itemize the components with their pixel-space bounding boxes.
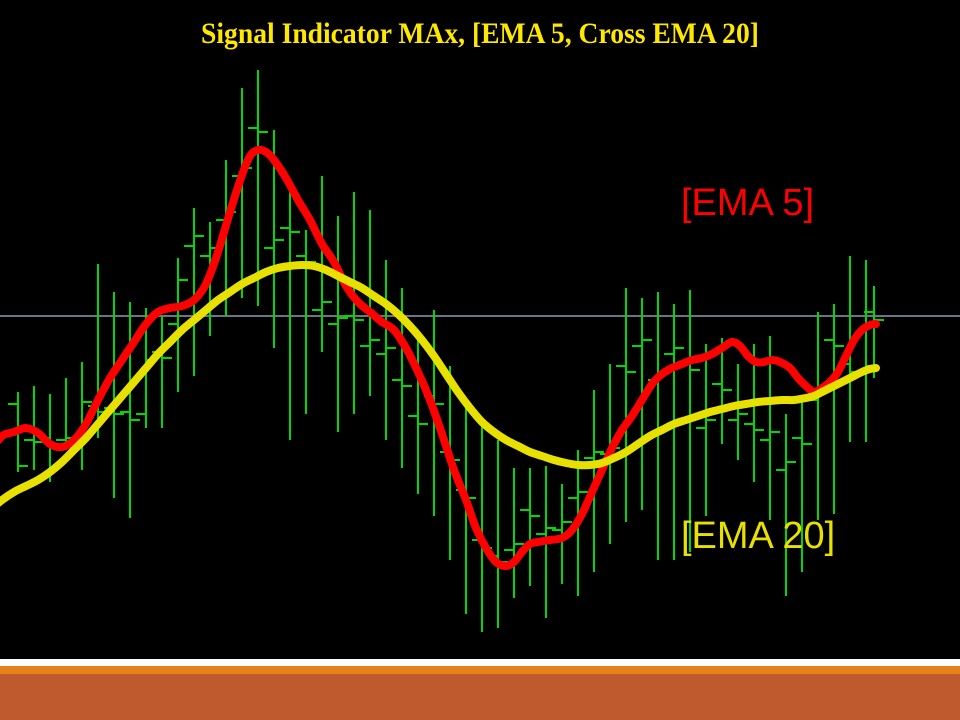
chart-title: Signal Indicator MAx, [EMA 5, Cross EMA … [38,16,921,52]
footer-accent-strip [0,666,960,674]
footer-bands [0,659,960,720]
chart-screenshot: Signal Indicator MAx, [EMA 5, Cross EMA … [0,0,960,720]
footer-white-strip [0,659,960,666]
footer-color-band [0,674,960,720]
legend-label-ema5: [EMA 5] [681,183,814,223]
chart-canvas [0,0,960,659]
chart-plot-area[interactable]: Signal Indicator MAx, [EMA 5, Cross EMA … [0,0,960,659]
legend-label-ema20: [EMA 20] [681,516,835,556]
